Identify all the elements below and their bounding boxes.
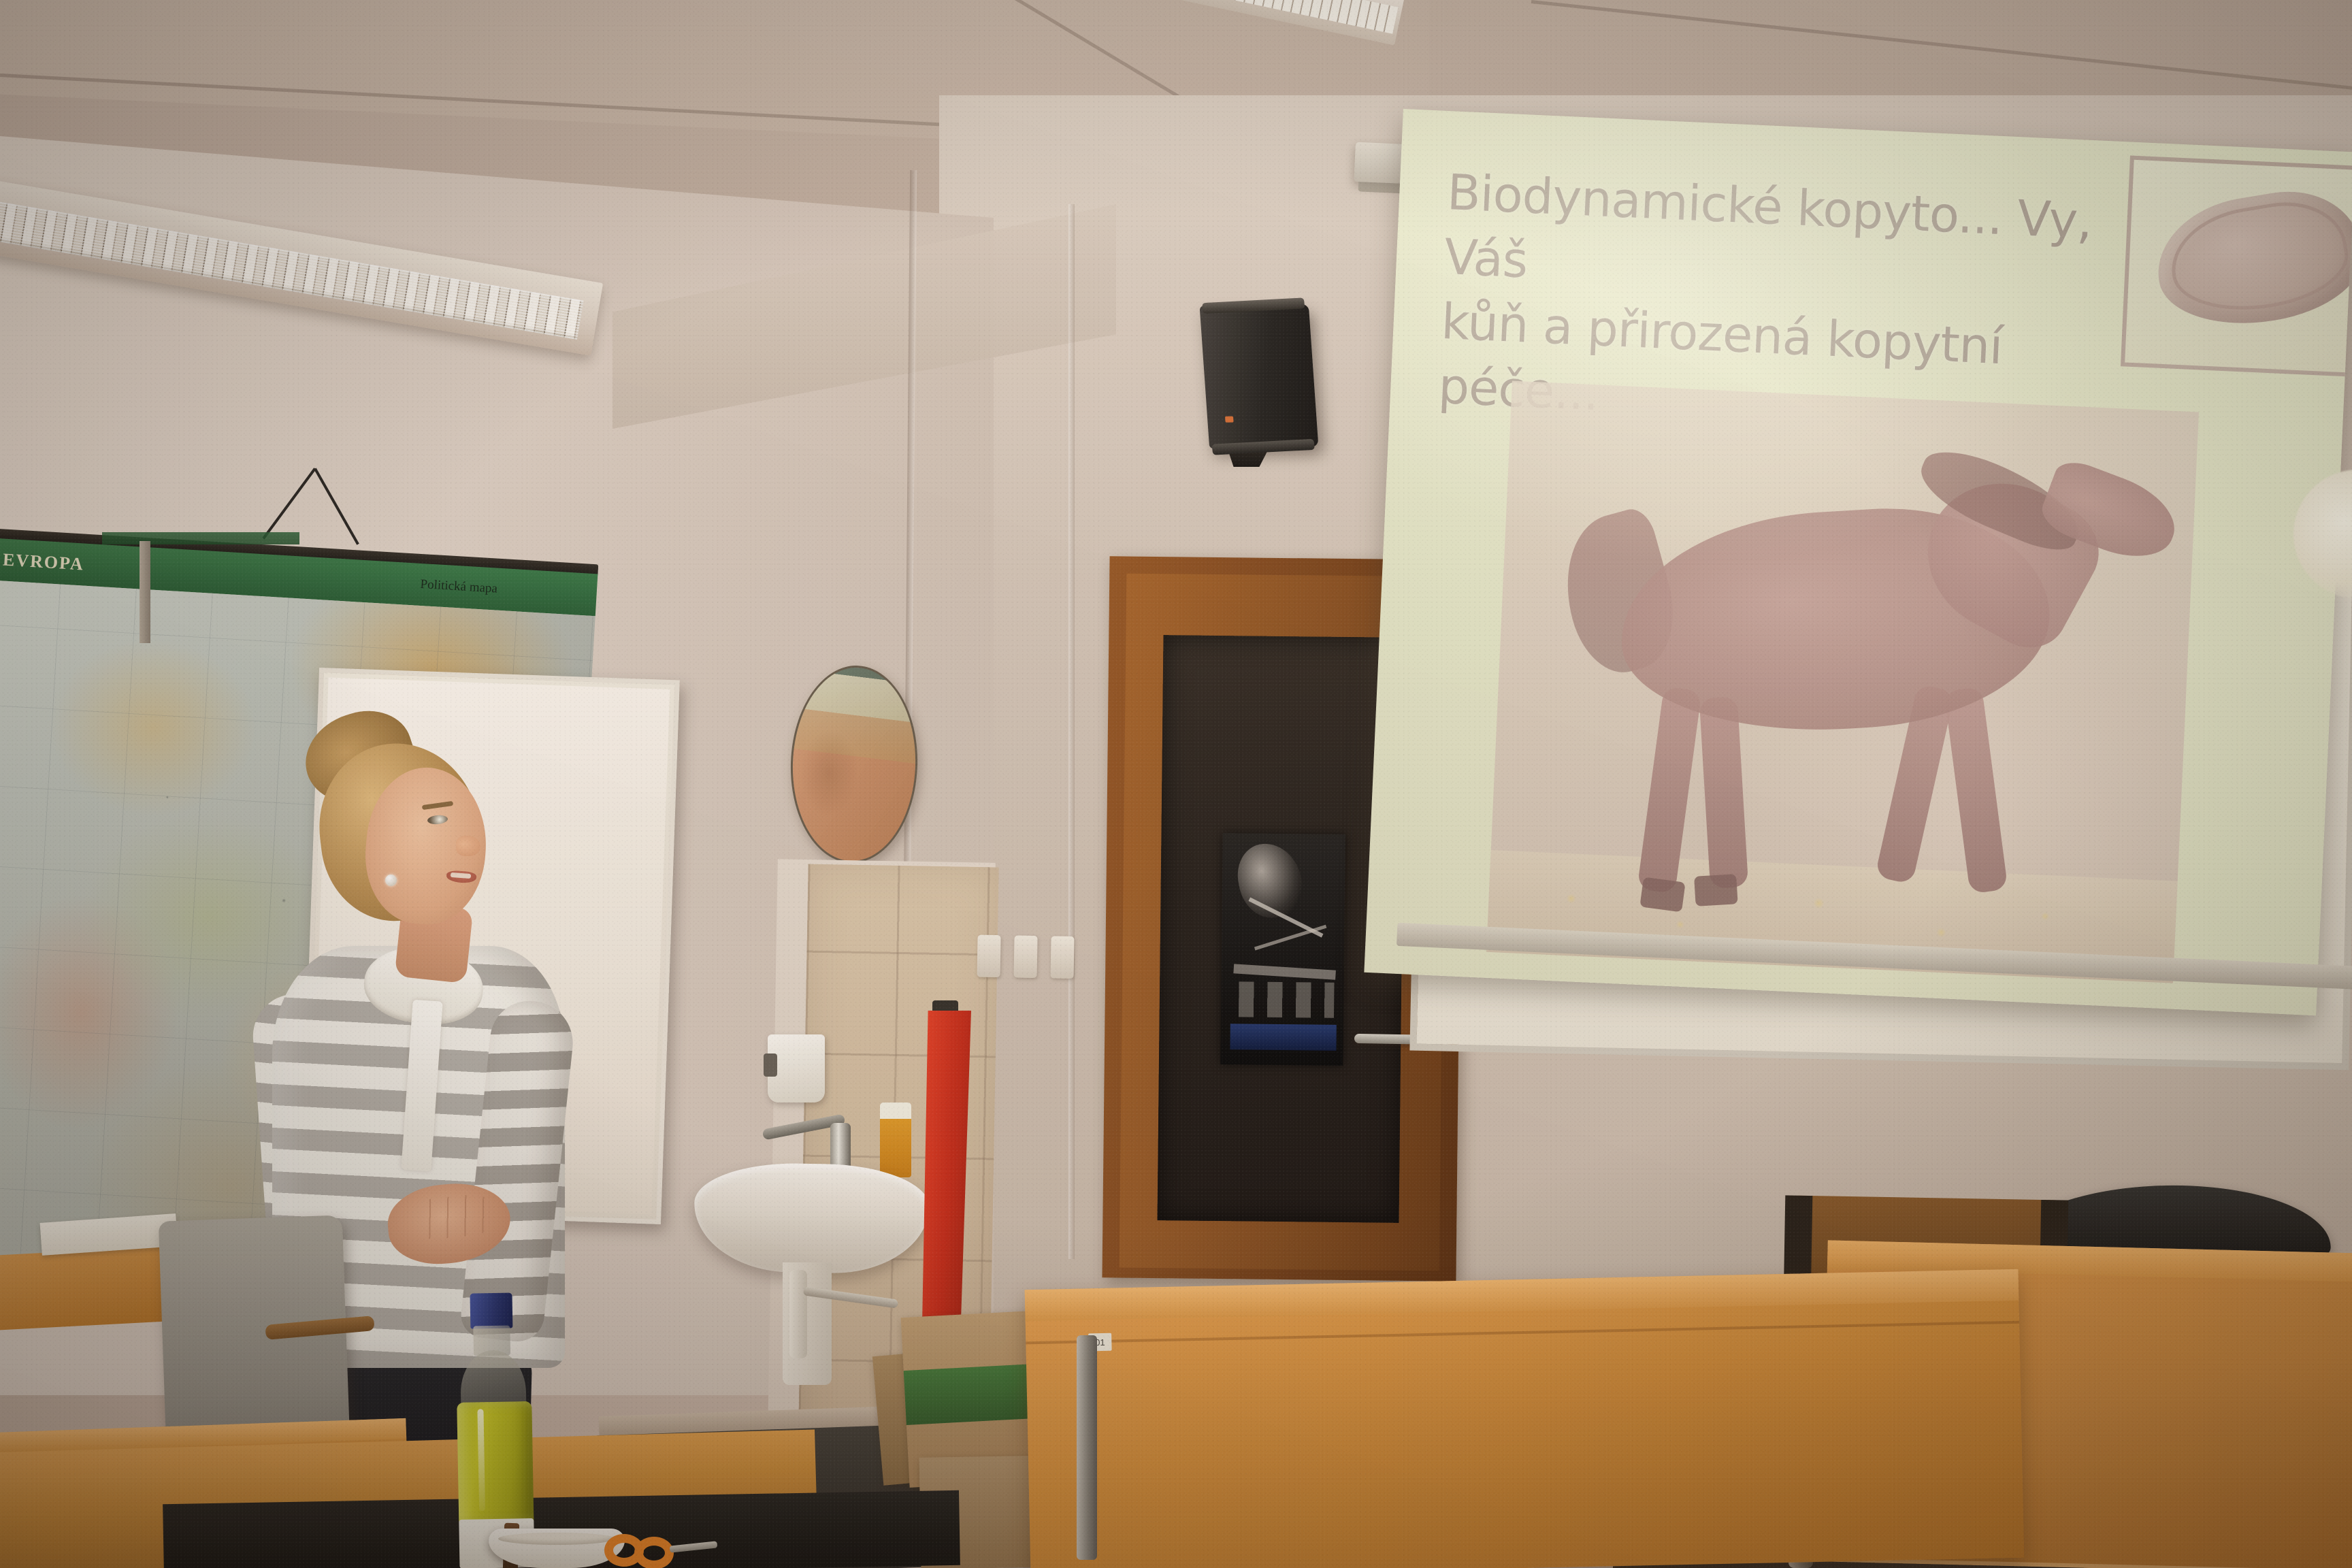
projection-screen: Biodynamické kopyto... Vy, Váš kůň a při… <box>1364 109 2352 1015</box>
desk-leg <box>1077 1335 1097 1560</box>
presenter-nose <box>456 836 480 856</box>
bottle-cap[interactable] <box>470 1292 512 1328</box>
poster-graphic-bar <box>1233 964 1336 979</box>
desk-main[interactable]: 01 <box>1025 1269 2025 1568</box>
presenter-earring <box>385 875 397 886</box>
poster-blue-band <box>1230 1024 1336 1051</box>
drink-bottle[interactable] <box>446 1292 540 1568</box>
bottle-body <box>457 1401 534 1525</box>
slide-horse-photo <box>1486 381 2199 983</box>
coat-hook[interactable] <box>1051 936 1075 979</box>
scissors-blade <box>670 1541 718 1552</box>
soap-dispenser-lever[interactable] <box>764 1053 777 1077</box>
coat-hook[interactable] <box>977 935 1001 978</box>
soap-dispenser[interactable] <box>768 1034 825 1102</box>
horse-hoof <box>1639 877 1685 913</box>
map-title: EVROPA <box>2 550 84 575</box>
door-poster <box>1220 833 1345 1066</box>
poster-graphic-blocks <box>1239 981 1335 1017</box>
poster-graphic-line <box>1254 925 1326 951</box>
sink-trap <box>789 1270 807 1358</box>
pa-speaker <box>1200 304 1319 448</box>
flipchart-tray <box>102 532 299 544</box>
speaker-power-led <box>1225 416 1234 423</box>
horse-hoof <box>1694 874 1738 906</box>
desk-left-back[interactable] <box>0 1245 186 1331</box>
horse-leg <box>1944 687 2008 894</box>
wall-corner <box>1068 204 1075 1259</box>
coat-hook[interactable] <box>1014 935 1038 978</box>
coat-hooks[interactable] <box>977 935 1093 985</box>
classroom-photo: EVROPA Politická mapa <box>0 0 2352 1568</box>
flipchart-leg <box>140 541 150 643</box>
slide-hoof-inset <box>2121 156 2352 378</box>
scissors[interactable] <box>604 1533 713 1568</box>
scissors-handle-ring <box>634 1537 674 1568</box>
map-subtitle: Politická mapa <box>420 577 498 597</box>
soap-bottle[interactable] <box>880 1102 911 1177</box>
desk-seam <box>1026 1321 2019 1345</box>
